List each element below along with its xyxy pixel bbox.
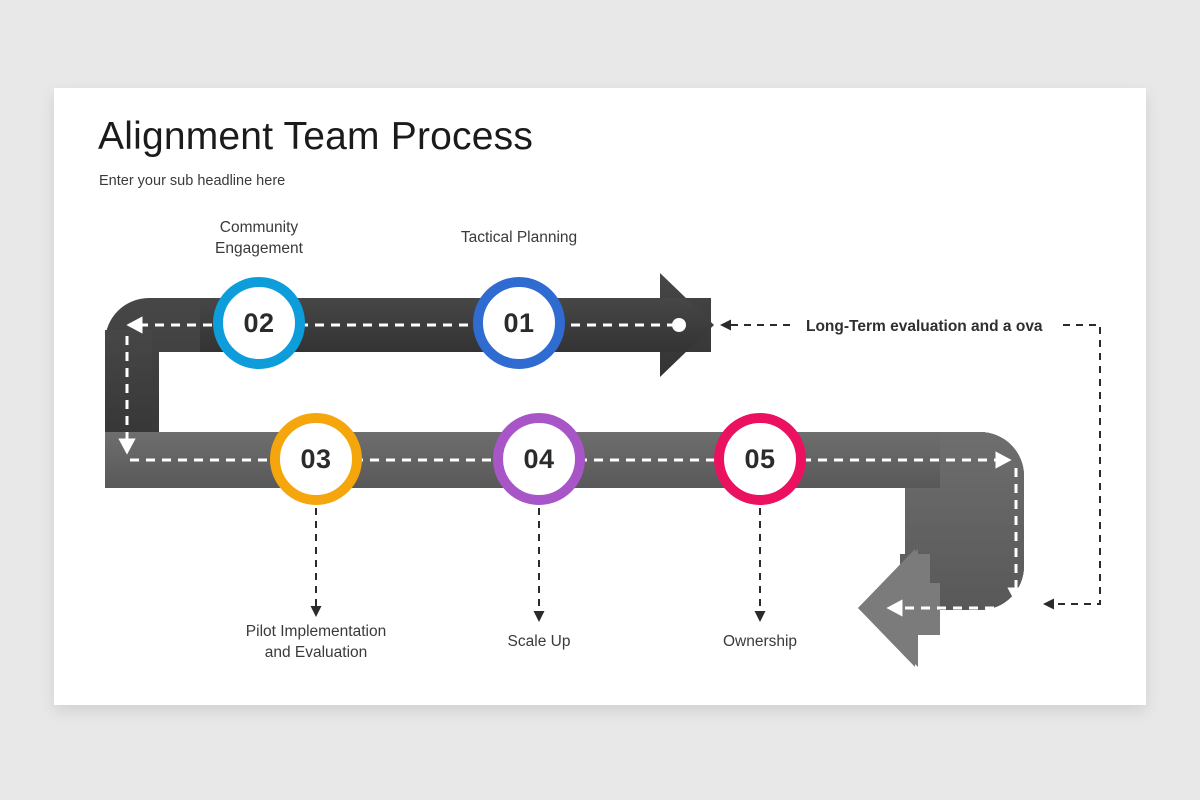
step-circle-04[interactable]: 04 [493,413,585,505]
step-number-03: 03 [300,446,331,473]
step-label-03: Pilot Implementation and Evaluation [216,622,416,663]
step-circle-05[interactable]: 05 [714,413,806,505]
step-label-05: Ownership [680,632,840,653]
step-circle-02[interactable]: 02 [213,277,305,369]
step-label-01: Tactical Planning [419,228,619,249]
step-circle-01[interactable]: 01 [473,277,565,369]
step-number-02: 02 [243,310,274,337]
step-label-04: Scale Up [459,632,619,653]
page-title: Alignment Team Process [98,115,533,159]
annotation-long-term-evaluation: Long-Term evaluation and a ova [806,318,1043,336]
slide-card: Alignment Team Process Enter your sub he… [54,88,1146,705]
step-circle-03[interactable]: 03 [270,413,362,505]
step-number-01: 01 [503,310,534,337]
step-number-05: 05 [744,446,775,473]
page-subtitle: Enter your sub headline here [99,173,285,189]
step-label-02: Community Engagement [169,218,349,259]
step-number-04: 04 [523,446,554,473]
